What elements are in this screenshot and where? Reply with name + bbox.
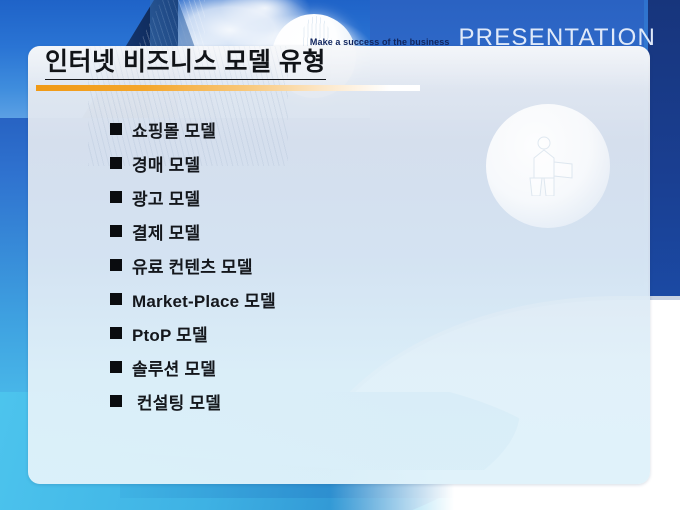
square-bullet-icon <box>110 395 122 407</box>
list-item: 경매 모델 <box>110 146 580 180</box>
bullet-list: 쇼핑몰 모델 경매 모델 광고 모델 결제 모델 유료 컨텐츠 모델 Marke… <box>110 112 580 418</box>
list-item: 결제 모델 <box>110 214 580 248</box>
slide-title: 인터넷 비즈니스 모델 유형 <box>45 48 326 80</box>
list-item: 유료 컨텐츠 모델 <box>110 248 580 282</box>
square-bullet-icon <box>110 157 122 169</box>
square-bullet-icon <box>110 327 122 339</box>
list-item-label: 솔루션 모델 <box>132 355 216 380</box>
list-item-label: PtoP 모델 <box>132 321 208 346</box>
list-item-label: 광고 모델 <box>132 185 200 210</box>
list-item: 솔루션 모델 <box>110 350 580 384</box>
list-item: 쇼핑몰 모델 <box>110 112 580 146</box>
list-item: 광고 모델 <box>110 180 580 214</box>
list-item: PtoP 모델 <box>110 316 580 350</box>
list-item: 컨설팅 모델 <box>110 384 580 418</box>
square-bullet-icon <box>110 259 122 271</box>
square-bullet-icon <box>110 361 122 373</box>
list-item: Market-Place 모델 <box>110 282 580 316</box>
square-bullet-icon <box>110 293 122 305</box>
list-item-label: 경매 모델 <box>132 151 200 176</box>
square-bullet-icon <box>110 123 122 135</box>
square-bullet-icon <box>110 191 122 203</box>
title-accent-bar <box>36 85 420 91</box>
list-item-label: 유료 컨텐츠 모델 <box>132 253 253 278</box>
list-item-label: 결제 모델 <box>132 219 200 244</box>
list-item-label: 컨설팅 모델 <box>132 389 221 414</box>
presentation-slide: Make a success of the business PRESENTAT… <box>0 0 680 510</box>
list-item-label: Market-Place 모델 <box>132 287 276 312</box>
square-bullet-icon <box>110 225 122 237</box>
list-item-label: 쇼핑몰 모델 <box>132 117 216 142</box>
